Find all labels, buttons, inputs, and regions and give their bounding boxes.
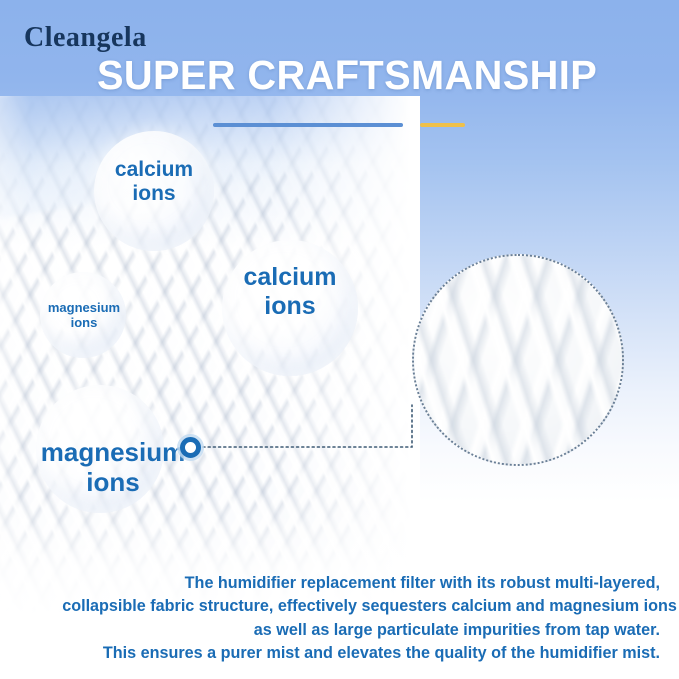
ion-label-calcium-1: calcium ions [94, 158, 214, 207]
gold-divider [420, 123, 465, 127]
description-caption: The humidifier replacement filter with i… [62, 572, 660, 666]
ion-label-line-1: calcium [214, 263, 366, 292]
ion-label-calcium-2: calcium ions [214, 263, 366, 321]
blue-divider [213, 123, 403, 127]
ion-label-line-2: ions [94, 182, 214, 206]
product-marketing-image: Cleangela SUPER CRAFTSMANSHIP calcium io… [0, 0, 679, 679]
ion-label-line-2: ions [25, 315, 143, 330]
ion-label-line-1: magnesium [25, 300, 143, 315]
ion-label-line-1: calcium [94, 158, 214, 182]
callout-marker-icon [180, 437, 201, 458]
caption-line-4: This ensures a purer mist and elevates t… [62, 642, 660, 665]
ion-label-line-2: ions [8, 467, 218, 497]
magnified-mesh-texture [412, 254, 624, 466]
page-title: SUPER CRAFTSMANSHIP [97, 52, 582, 99]
brand-logo: Cleangela [24, 22, 147, 54]
caption-line-2: collapsible fabric structure, effectivel… [62, 595, 660, 618]
magnified-mesh-detail [412, 254, 624, 466]
ion-label-line-2: ions [214, 292, 366, 321]
caption-line-1: The humidifier replacement filter with i… [62, 572, 660, 595]
ion-label-magnesium-1: magnesium ions [25, 300, 143, 330]
caption-line-3: as well as large particulate impurities … [62, 619, 660, 642]
